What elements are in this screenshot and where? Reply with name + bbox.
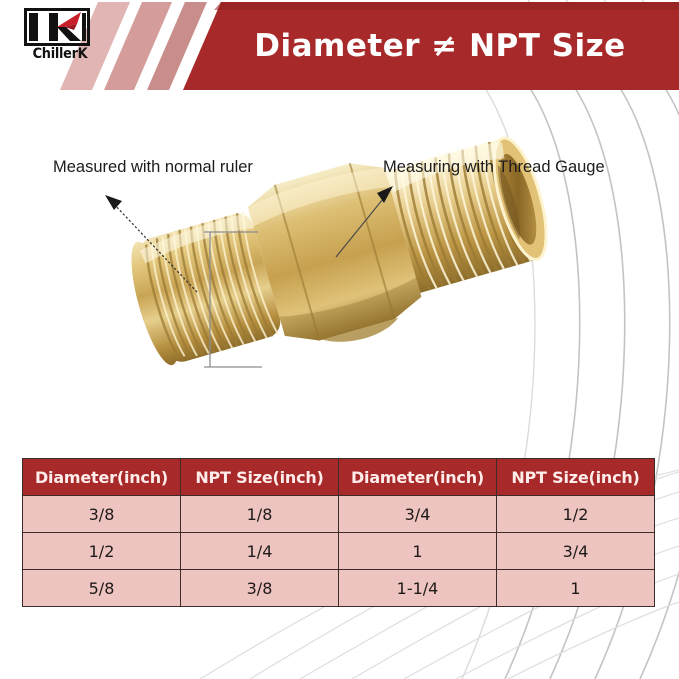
column-header-diameter-1: Diameter(inch) [23, 459, 181, 496]
table-row: 5/8 3/8 1-1/4 1 [23, 570, 655, 607]
header-banner: Diameter ≠ NPT Size [0, 0, 679, 92]
cell-npt-2: 3/4 [497, 533, 655, 570]
product-illustration [0, 92, 679, 440]
callout-label-right: Measuring with Thread Gauge [383, 158, 605, 177]
table-header-row: Diameter(inch) NPT Size(inch) Diameter(i… [23, 459, 655, 496]
cell-npt-2: 1/2 [497, 496, 655, 533]
column-header-diameter-2: Diameter(inch) [339, 459, 497, 496]
table-row: 3/8 1/8 3/4 1/2 [23, 496, 655, 533]
banner-body-shade [214, 2, 679, 10]
cell-npt-1: 1/4 [181, 533, 339, 570]
brass-hex-nipple-fitting-image [0, 92, 679, 440]
cell-diameter-2: 1-1/4 [339, 570, 497, 607]
cell-npt-2: 1 [497, 570, 655, 607]
cell-diameter-1: 5/8 [23, 570, 181, 607]
infographic-page: Diameter ≠ NPT Size ChillerK [0, 0, 679, 679]
diameter-npt-size-table: Diameter(inch) NPT Size(inch) Diameter(i… [22, 458, 655, 607]
cell-diameter-1: 3/8 [23, 496, 181, 533]
callout-label-left: Measured with normal ruler [53, 158, 253, 177]
chillerk-bracket-k-logo-icon [24, 8, 90, 46]
page-title: Diameter ≠ NPT Size [205, 20, 675, 72]
brand-wordmark: ChillerK [23, 46, 97, 62]
table-row: 1/2 1/4 1 3/4 [23, 533, 655, 570]
column-header-npt-size-2: NPT Size(inch) [497, 459, 655, 496]
cell-npt-1: 3/8 [181, 570, 339, 607]
cell-diameter-2: 1 [339, 533, 497, 570]
cell-diameter-2: 3/4 [339, 496, 497, 533]
column-header-npt-size-1: NPT Size(inch) [181, 459, 339, 496]
cell-npt-1: 1/8 [181, 496, 339, 533]
cell-diameter-1: 1/2 [23, 533, 181, 570]
brand-logo: ChillerK [20, 8, 100, 70]
